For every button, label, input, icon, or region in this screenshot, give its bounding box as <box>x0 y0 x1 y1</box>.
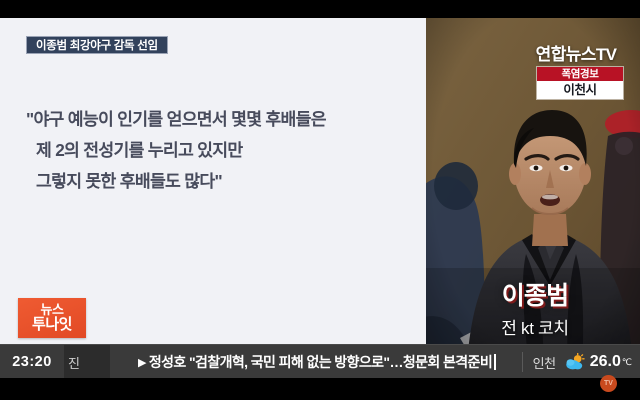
broadcast-screenshot: 이종범 최강야구 감독 선임 "야구 예능이 인기를 얻으면서 몇몇 후배들은 … <box>0 0 640 400</box>
weather-alert-box: 폭염경보 이천시 <box>536 66 624 100</box>
alert-label: 폭염경보 <box>537 67 623 81</box>
quote-block: "야구 예능이 인기를 얻으면서 몇몇 후배들은 제 2의 전성기를 누리고 있… <box>26 104 406 197</box>
news-ticker: 23:20 진 ▶ 정성호 "검찰개혁, 국민 피해 없는 방향으로"…청문회 … <box>0 344 640 379</box>
letterbox-top <box>0 0 640 18</box>
weather-widget: 26.0 ℃ <box>564 353 640 371</box>
sun-behind-cloud-icon <box>564 353 586 371</box>
program-logo-line1: 뉴스 <box>41 303 64 317</box>
lower-third: 이종범 전 kt 코치 <box>440 276 630 339</box>
ticker-clock: 23:20 <box>0 354 64 370</box>
weather-city: 인천 <box>525 353 564 372</box>
ticker-caret <box>494 354 496 370</box>
letterbox-bottom <box>0 378 640 400</box>
program-logo-line2: 투나잇 <box>32 317 72 333</box>
subject-title: 전 kt 코치 <box>440 314 630 339</box>
quote-line-3: 그렇지 못한 후배들도 많다" <box>26 166 406 197</box>
ticker-headline: 정성호 "검찰개혁, 국민 피해 없는 방향으로"…청문회 본격준비 <box>149 352 492 372</box>
weather-unit: ℃ <box>622 357 632 368</box>
graphics-panel: 이종범 최강야구 감독 선임 "야구 예능이 인기를 얻으면서 몇몇 후배들은 … <box>0 18 426 378</box>
program-logo: 뉴스 투나잇 <box>18 298 86 338</box>
weather-temperature: 26.0 <box>590 353 621 371</box>
quote-line-1: "야구 예능이 인기를 얻으면서 몇몇 후배들은 <box>26 104 406 135</box>
play-arrow-icon: ▶ <box>138 356 146 369</box>
ticker-headline-wrap: ▶ 정성호 "검찰개혁, 국민 피해 없는 방향으로"…청문회 본격준비 <box>110 352 520 372</box>
channel-logo: 연합뉴스TV <box>522 40 630 65</box>
corner-watermark-icon: TV <box>600 375 617 392</box>
headline-badge: 이종범 최강야구 감독 선임 <box>26 36 168 54</box>
quote-line-2: 제 2의 전성기를 누리고 있지만 <box>26 135 406 166</box>
ticker-previous-fragment: 진 <box>64 345 110 379</box>
ticker-divider <box>522 352 523 372</box>
broadcast-frame: 이종범 최강야구 감독 선임 "야구 예능이 인기를 얻으면서 몇몇 후배들은 … <box>0 18 640 378</box>
subject-name: 이종범 <box>440 276 630 312</box>
alert-region: 이천시 <box>537 81 623 99</box>
